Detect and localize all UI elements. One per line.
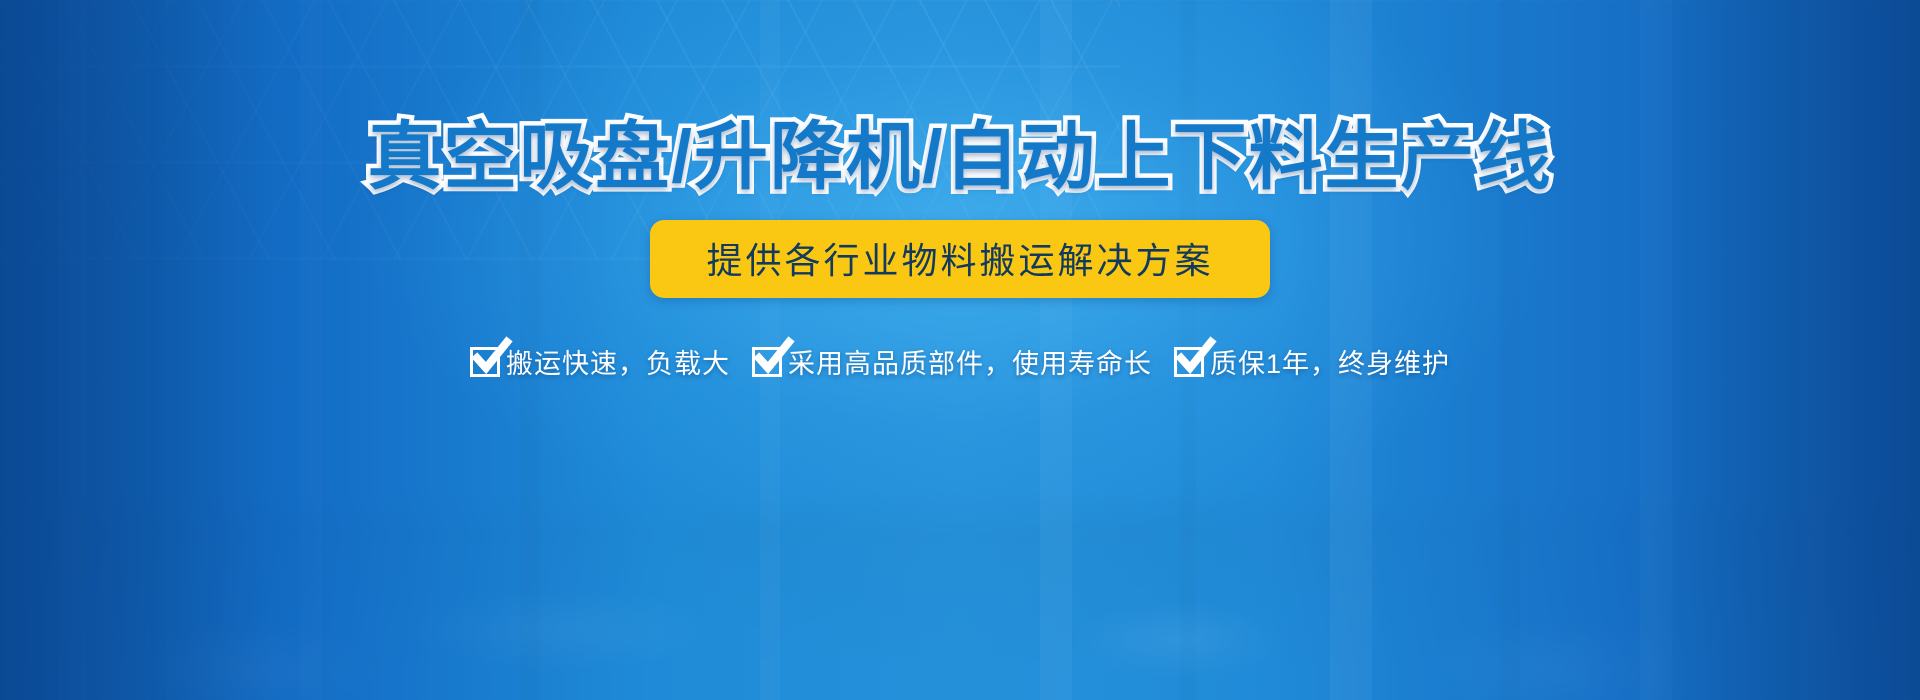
feature-label: 搬运快速，负载大 [506, 342, 730, 381]
banner-content: 真空吸盘/升降机/自动上下料生产线 提供各行业物料搬运解决方案 搬运快速，负载大… [0, 0, 1920, 700]
feature-label: 质保1年，终身维护 [1210, 342, 1450, 381]
hero-banner: 真空吸盘/升降机/自动上下料生产线 提供各行业物料搬运解决方案 搬运快速，负载大… [0, 0, 1920, 700]
feature-item: 采用高品质部件，使用寿命长 [752, 342, 1152, 381]
checkbox-check-icon [1174, 347, 1204, 377]
feature-item: 质保1年，终身维护 [1174, 342, 1450, 381]
banner-headline: 真空吸盘/升降机/自动上下料生产线 [367, 120, 1552, 194]
checkbox-check-icon [470, 347, 500, 377]
checkbox-check-icon [752, 347, 782, 377]
feature-label: 采用高品质部件，使用寿命长 [788, 342, 1152, 381]
tagline-pill-button[interactable]: 提供各行业物料搬运解决方案 [650, 220, 1269, 298]
feature-item: 搬运快速，负载大 [470, 342, 730, 381]
feature-list: 搬运快速，负载大 采用高品质部件，使用寿命长 质保1年，终身维护 [470, 342, 1450, 381]
